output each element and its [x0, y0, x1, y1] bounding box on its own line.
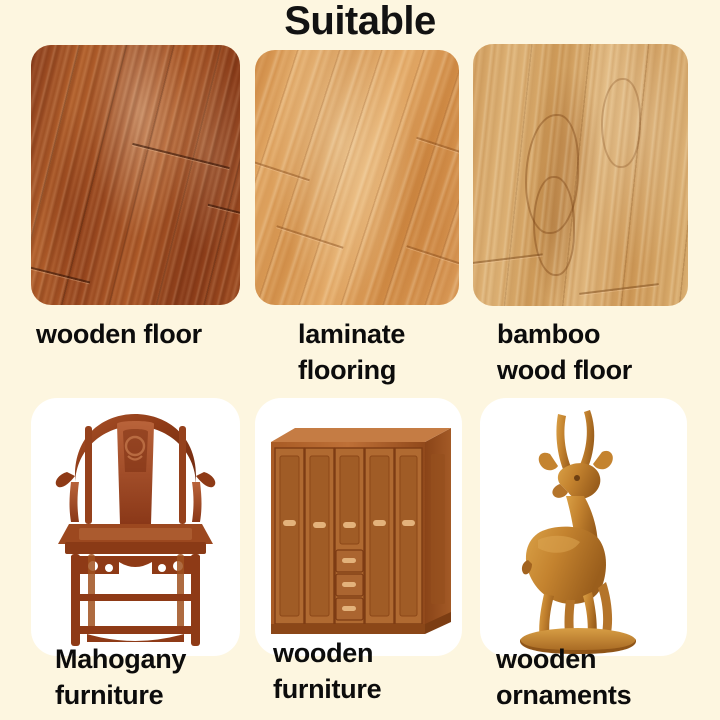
caption-bamboo-wood-floor: bamboo wood floor: [497, 316, 712, 388]
caption-wooden-floor: wooden floor: [36, 316, 246, 352]
caption-laminate-flooring: laminate flooring: [298, 316, 498, 388]
bamboo-wood-floor-texture: [473, 44, 688, 306]
wooden-wardrobe-illustration: [255, 398, 462, 656]
mahogany-chair-illustration: [31, 398, 240, 656]
tile-wooden-furniture[interactable]: [255, 398, 462, 656]
tile-mahogany-furniture[interactable]: [31, 398, 240, 656]
suitable-surfaces-panel: Suitable wooden floor laminate flooring …: [0, 0, 720, 720]
tile-wooden-floor[interactable]: [31, 45, 240, 305]
wood-grain-figure: [533, 176, 575, 276]
laminate-flooring-texture: [255, 50, 459, 305]
wood-grain-figure: [601, 78, 641, 168]
tile-wooden-ornaments[interactable]: [480, 398, 687, 656]
tile-bamboo-wood-floor[interactable]: [473, 44, 688, 306]
tile-laminate-flooring[interactable]: [255, 50, 459, 305]
page-title: Suitable: [0, 0, 720, 44]
caption-mahogany-furniture: Mahogany furniture: [55, 641, 265, 713]
caption-wooden-ornaments: wooden ornaments: [496, 641, 706, 713]
wooden-floor-texture: [31, 45, 240, 305]
caption-wooden-furniture: wooden furniture: [273, 635, 473, 707]
wooden-deer-figurine-illustration: [480, 398, 687, 656]
